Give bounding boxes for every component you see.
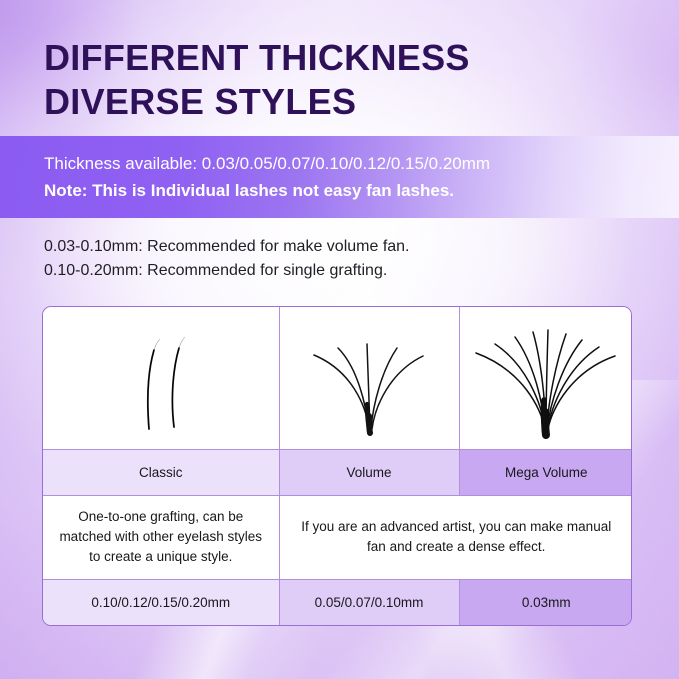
spec-cell-volume: 0.05/0.07/0.10mm [279,579,459,625]
mega-volume-fan-cell [459,307,632,449]
description-cell-classic: One-to-one grafting, can be matched with… [43,495,279,579]
label-cell-mega-volume: Mega Volume [459,449,632,495]
label-cell-classic: Classic [43,449,279,495]
mega-volume-fan-illustration [460,308,633,448]
table-row-labels: Classic Volume Mega Volume [43,449,632,495]
recommendation-line-1: 0.03-0.10mm: Recommended for make volume… [44,235,410,259]
label-cell-volume: Volume [279,449,459,495]
table-row-descriptions: One-to-one grafting, can be matched with… [43,495,632,579]
page-title-line-2: DIVERSE STYLES [44,80,644,124]
thickness-available-line: Thickness available: 0.03/0.05/0.07/0.10… [44,150,490,177]
volume-fan-cell [279,307,459,449]
note-line: Note: This is Individual lashes not easy… [44,177,490,204]
table-row-illustrations [43,307,632,449]
recommendation-line-2: 0.10-0.20mm: Recommended for single graf… [44,259,410,283]
lash-comparison-table: Classic Volume Mega Volume One-to-one gr… [42,306,632,626]
thickness-banner: Thickness available: 0.03/0.05/0.07/0.10… [0,136,679,218]
promo-graphic: DIFFERENT THICKNESS DIVERSE STYLES Thick… [0,0,679,679]
description-cell-volume-mega: If you are an advanced artist, you can m… [279,495,632,579]
page-title: DIFFERENT THICKNESS DIVERSE STYLES [44,36,644,124]
classic-lash-cell [43,307,279,449]
table-row-specs: 0.10/0.12/0.15/0.20mm 0.05/0.07/0.10mm 0… [43,579,632,625]
page-title-line-1: DIFFERENT THICKNESS [44,37,470,78]
classic-lash-illustration [43,308,279,448]
spec-cell-mega-volume: 0.03mm [459,579,632,625]
volume-fan-illustration [280,308,460,448]
thickness-banner-text: Thickness available: 0.03/0.05/0.07/0.10… [44,150,490,204]
spec-cell-classic: 0.10/0.12/0.15/0.20mm [43,579,279,625]
recommendation-block: 0.03-0.10mm: Recommended for make volume… [44,235,410,283]
